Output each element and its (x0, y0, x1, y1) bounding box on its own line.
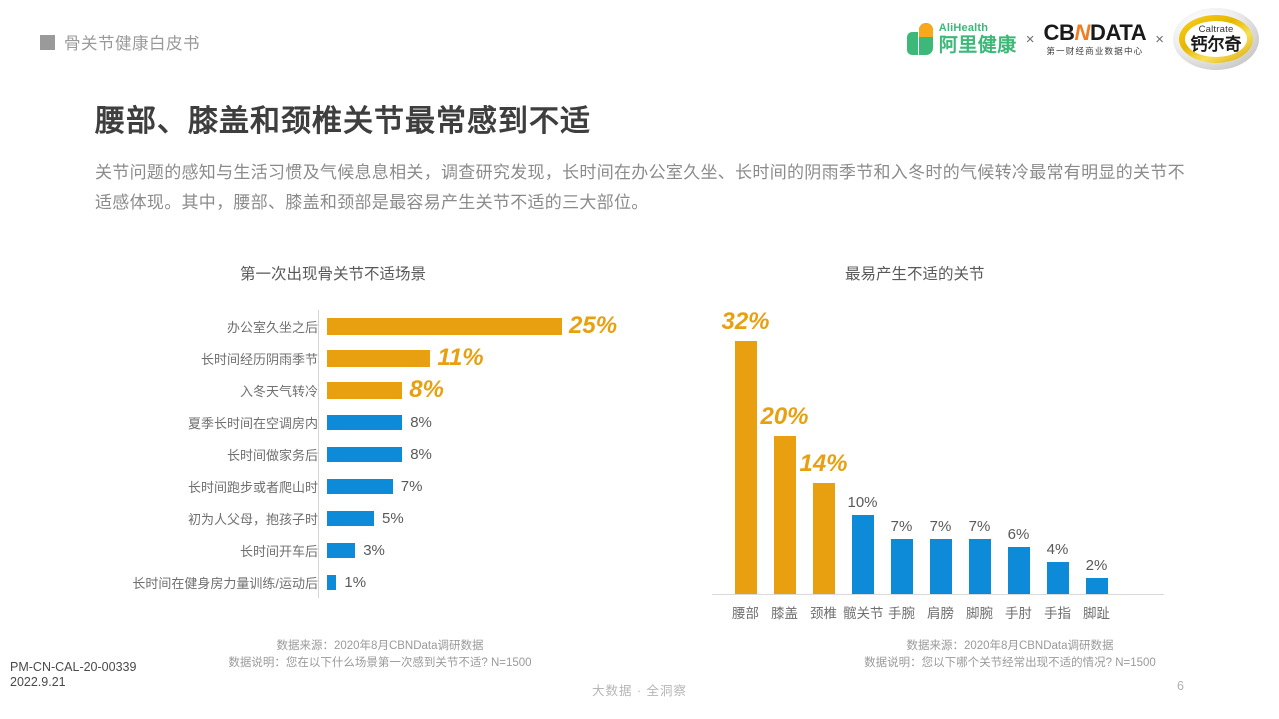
chart-right-tick-label: 脚腕 (960, 602, 999, 622)
chart-right-bar (969, 539, 991, 594)
chart-left-row: 长时间在健身房力量训练/运动后1% (100, 566, 670, 598)
chart-right-footnote: 数据来源：2020年8月CBNData调研数据 数据说明：您以下哪个关节经常出现… (740, 638, 1279, 672)
chart-left-bar-cell: 5% (327, 502, 670, 534)
cbndata-label-n: N (1074, 20, 1090, 45)
chart-left-title: 第一次出现骨关节不适场景 (240, 262, 426, 284)
chart-left-row: 长时间跑步或者爬山时7% (100, 470, 670, 502)
chart-right-column: 7% (921, 302, 960, 594)
chart-first-discomfort-scenario: 第一次出现骨关节不适场景 办公室久坐之后25%长时间经历阴雨季节11%入冬天气转… (100, 262, 670, 612)
alihealth-cn-label: 阿里健康 (939, 36, 1017, 55)
chart-right-value-label: 7% (969, 518, 991, 535)
chart-left-category-label: 长时间做家务后 (100, 445, 327, 464)
chart-left-definition: 数据说明：您在以下什么场景第一次感到关节不适? N=1500 (120, 655, 640, 672)
chart-left-bar (327, 382, 402, 399)
chart-right-tick-labels: 腰部膝盖颈椎髋关节手腕肩膀脚腕手肘手指脚趾 (712, 602, 1172, 626)
breadcrumb: 骨关节健康白皮书 (40, 30, 200, 54)
chart-right-bar-list: 32%20%14%10%7%7%7%6%4%2% (712, 302, 1172, 594)
page-number: 6 (1177, 679, 1184, 693)
chart-right-bar (813, 483, 835, 594)
chart-left-row: 长时间做家务后8% (100, 438, 670, 470)
chart-right-value-label: 32% (721, 308, 769, 336)
chart-right-source: 数据来源：2020年8月CBNData调研数据 (740, 638, 1279, 655)
chart-right-value-label: 6% (1008, 526, 1030, 543)
chart-right-value-label: 10% (847, 494, 877, 511)
chart-left-bar (327, 479, 393, 494)
chart-left-value-label: 8% (410, 446, 432, 463)
chart-right-column: 14% (804, 302, 843, 594)
chart-left-value-label: 3% (363, 542, 385, 559)
chart-left-bar-cell: 25% (327, 310, 670, 342)
chart-right-tick-label: 脚趾 (1077, 602, 1116, 622)
chart-right-axis-line (712, 594, 1164, 595)
chart-right-tick-label: 颈椎 (804, 602, 843, 622)
chart-right-value-label: 7% (930, 518, 952, 535)
chart-left-bar-cell: 8% (327, 406, 670, 438)
chart-right-column: 4% (1038, 302, 1077, 594)
square-bullet-icon (40, 35, 55, 50)
chart-right-value-label: 2% (1086, 557, 1108, 574)
chart-left-category-label: 长时间经历阴雨季节 (100, 349, 327, 368)
chart-left-bar-cell: 1% (327, 566, 670, 598)
cbndata-label-b: DATA (1090, 20, 1146, 45)
chart-right-column: 20% (765, 302, 804, 594)
alihealth-mark-icon (907, 23, 933, 55)
chart-left-value-label: 8% (410, 414, 432, 431)
chart-left-bar (327, 543, 355, 558)
logo-separator-x-icon-2: × (1155, 32, 1164, 47)
chart-left-footnote: 数据来源：2020年8月CBNData调研数据 数据说明：您在以下什么场景第一次… (120, 638, 640, 672)
chart-left-value-label: 25% (569, 312, 617, 340)
chart-right-column: 7% (882, 302, 921, 594)
cbndata-logo: CBNDATA 第一财经商业数据中心 (1044, 22, 1147, 56)
logo-separator-x-icon: × (1026, 32, 1035, 47)
chart-left-value-label: 5% (382, 510, 404, 527)
page-description: 关节问题的感知与生活习惯及气候息息相关，调查研究发现，长时间在办公室久坐、长时间… (95, 158, 1190, 218)
chart-left-row: 长时间开车后3% (100, 534, 670, 566)
chart-left-row: 长时间经历阴雨季节11% (100, 342, 670, 374)
chart-right-bar (1047, 562, 1069, 594)
chart-right-column: 2% (1077, 302, 1116, 594)
chart-left-value-label: 7% (401, 478, 423, 495)
chart-left-row: 初为人父母，抱孩子时5% (100, 502, 670, 534)
chart-right-column: 6% (999, 302, 1038, 594)
chart-right-column: 10% (843, 302, 882, 594)
chart-left-bar (327, 415, 402, 430)
chart-right-tick-label: 髋关节 (843, 602, 882, 622)
chart-right-tick-label: 腰部 (726, 602, 765, 622)
chart-right-column: 7% (960, 302, 999, 594)
chart-right-value-label: 14% (799, 450, 847, 478)
footer-tagline: 大数据 · 全洞察 (0, 680, 1279, 699)
chart-left-bar-cell: 8% (327, 438, 670, 470)
chart-right-bar (891, 539, 913, 594)
chart-left-bar-cell: 3% (327, 534, 670, 566)
alihealth-logo: AliHealth 阿里健康 (907, 23, 1017, 55)
chart-left-row: 办公室久坐之后25% (100, 310, 670, 342)
chart-left-bar (327, 511, 374, 526)
chart-right-definition: 数据说明：您以下哪个关节经常出现不适的情况? N=1500 (740, 655, 1279, 672)
chart-left-bar (327, 447, 402, 462)
chart-right-tick-label: 膝盖 (765, 602, 804, 622)
chart-right-bar (1008, 547, 1030, 594)
cbndata-sub-label: 第一财经商业数据中心 (1046, 47, 1143, 56)
chart-left-category-label: 夏季长时间在空调房内 (100, 413, 327, 432)
slide: 骨关节健康白皮书 AliHealth 阿里健康 × CBNDATA 第一财经商业… (0, 0, 1279, 719)
chart-left-source: 数据来源：2020年8月CBNData调研数据 (120, 638, 640, 655)
caltrate-logo: Caltrate 钙尔奇 (1173, 8, 1259, 70)
chart-right-bar (930, 539, 952, 594)
chart-right-bar (774, 436, 796, 594)
chart-left-category-label: 初为人父母，抱孩子时 (100, 509, 327, 528)
chart-left-category-label: 办公室久坐之后 (100, 317, 327, 336)
document-code-line1: PM-CN-CAL-20-00339 (10, 660, 136, 675)
chart-right-tick-label: 手腕 (882, 602, 921, 622)
chart-left-category-label: 长时间开车后 (100, 541, 327, 560)
chart-left-value-label: 8% (409, 376, 444, 404)
chart-left-row: 夏季长时间在空调房内8% (100, 406, 670, 438)
chart-right-tick-label: 手肘 (999, 602, 1038, 622)
chart-most-affected-joints: 最易产生不适的关节 32%20%14%10%7%7%7%6%4%2% 腰部膝盖颈… (700, 262, 1190, 622)
chart-left-bar (327, 318, 562, 335)
chart-right-value-label: 20% (760, 403, 808, 431)
chart-right-tick-label: 肩膀 (921, 602, 960, 622)
chart-right-bar (1086, 578, 1108, 594)
chart-right-title: 最易产生不适的关节 (845, 262, 985, 284)
chart-right-value-label: 4% (1047, 541, 1069, 558)
chart-left-bar-cell: 8% (327, 374, 670, 406)
slide-header: 骨关节健康白皮书 AliHealth 阿里健康 × CBNDATA 第一财经商业… (0, 0, 1279, 78)
logo-group: AliHealth 阿里健康 × CBNDATA 第一财经商业数据中心 × Ca… (907, 6, 1259, 72)
chart-right-column: 32% (726, 302, 765, 594)
caltrate-cn-label: 钙尔奇 (1191, 36, 1242, 53)
chart-left-bar-list: 办公室久坐之后25%长时间经历阴雨季节11%入冬天气转冷8%夏季长时间在空调房内… (100, 310, 670, 598)
chart-left-category-label: 长时间在健身房力量训练/运动后 (100, 573, 327, 592)
chart-left-row: 入冬天气转冷8% (100, 374, 670, 406)
caltrate-en-label: Caltrate (1199, 25, 1234, 35)
chart-left-value-label: 11% (437, 344, 483, 372)
chart-right-bar (735, 341, 757, 594)
cbndata-label-a: CB (1044, 20, 1075, 45)
chart-right-value-label: 7% (891, 518, 913, 535)
chart-right-tick-label: 手指 (1038, 602, 1077, 622)
breadcrumb-label: 骨关节健康白皮书 (64, 30, 200, 54)
chart-left-bar-cell: 7% (327, 470, 670, 502)
chart-left-category-label: 入冬天气转冷 (100, 381, 327, 400)
chart-left-category-label: 长时间跑步或者爬山时 (100, 477, 327, 496)
chart-left-bar (327, 575, 336, 590)
page-title: 腰部、膝盖和颈椎关节最常感到不适 (95, 96, 591, 140)
alihealth-en-label: AliHealth (939, 23, 1017, 34)
chart-left-value-label: 1% (344, 574, 366, 591)
chart-left-bar-cell: 11% (327, 342, 670, 374)
chart-right-bar (852, 515, 874, 594)
chart-left-bar (327, 350, 430, 367)
